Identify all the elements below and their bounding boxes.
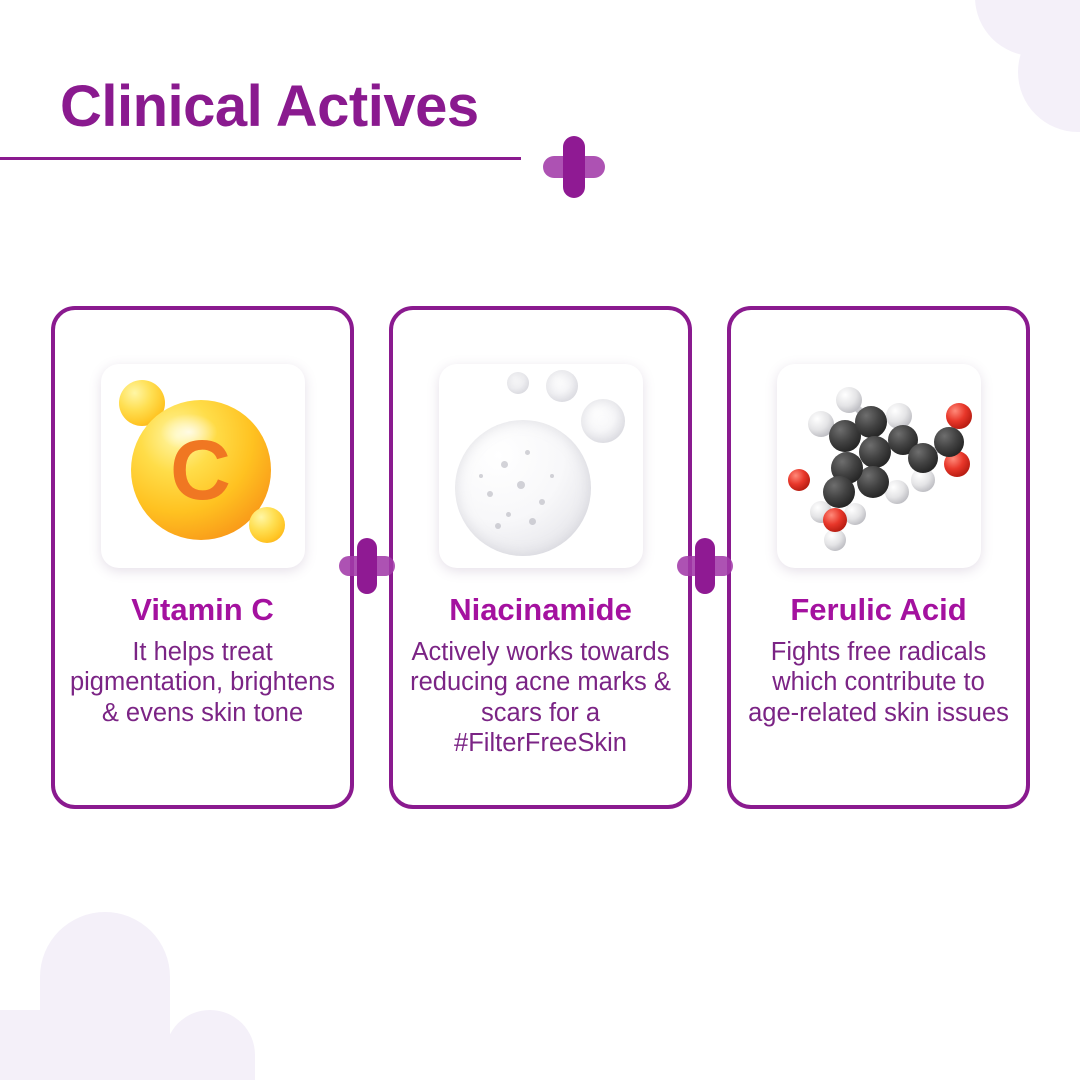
decor-blob-bottom-left-c	[165, 1010, 255, 1080]
gel-droplet-large	[455, 420, 591, 556]
gel-droplets-icon	[439, 364, 643, 568]
plus-icon-connector-right	[677, 538, 733, 594]
plus-icon-vertical-bar	[357, 538, 378, 594]
ingredient-description-ferulic-acid: Fights free radicals which contribute to…	[745, 637, 1013, 728]
plus-icon	[543, 136, 605, 198]
decor-blob-bottom-left-a	[40, 912, 170, 1080]
decor-blob-top-right-b	[1018, 12, 1080, 132]
ingredient-name-ferulic-acid: Ferulic Acid	[790, 594, 966, 625]
page-title: Clinical Actives	[60, 78, 479, 136]
title-underline-rule	[0, 157, 521, 160]
gel-droplet-small-2	[546, 370, 578, 402]
ingredient-card-ferulic-acid[interactable]: Ferulic Acid Fights free radicals which …	[727, 306, 1030, 809]
vitamin-c-letter: C	[131, 400, 271, 540]
gel-droplet-small-1	[507, 372, 529, 394]
plus-icon-vertical-bar	[563, 136, 586, 198]
ingredient-card-vitamin-c[interactable]: C Vitamin C It helps treat pigmentation,…	[51, 306, 354, 809]
plus-icon-vertical-bar	[695, 538, 716, 594]
ingredient-description-niacinamide: Actively works towards reducing acne mar…	[407, 637, 675, 758]
ingredient-cards-row: C Vitamin C It helps treat pigmentation,…	[0, 306, 1080, 811]
decor-blob-top-right-c	[1040, 0, 1080, 70]
ingredient-name-vitamin-c: Vitamin C	[131, 594, 273, 625]
ingredient-name-niacinamide: Niacinamide	[449, 594, 632, 625]
decor-blob-bottom-left-b	[0, 1010, 120, 1080]
plus-icon-connector-left	[339, 538, 395, 594]
decor-blob-top-right-a	[975, 0, 1080, 56]
gel-droplet-small-3	[581, 399, 625, 443]
ingredient-description-vitamin-c: It helps treat pigmentation, brightens &…	[69, 637, 337, 728]
ingredient-card-niacinamide[interactable]: Niacinamide Actively works towards reduc…	[389, 306, 692, 809]
vitamin-c-sphere-icon: C	[101, 364, 305, 568]
molecule-model-icon	[777, 364, 981, 568]
